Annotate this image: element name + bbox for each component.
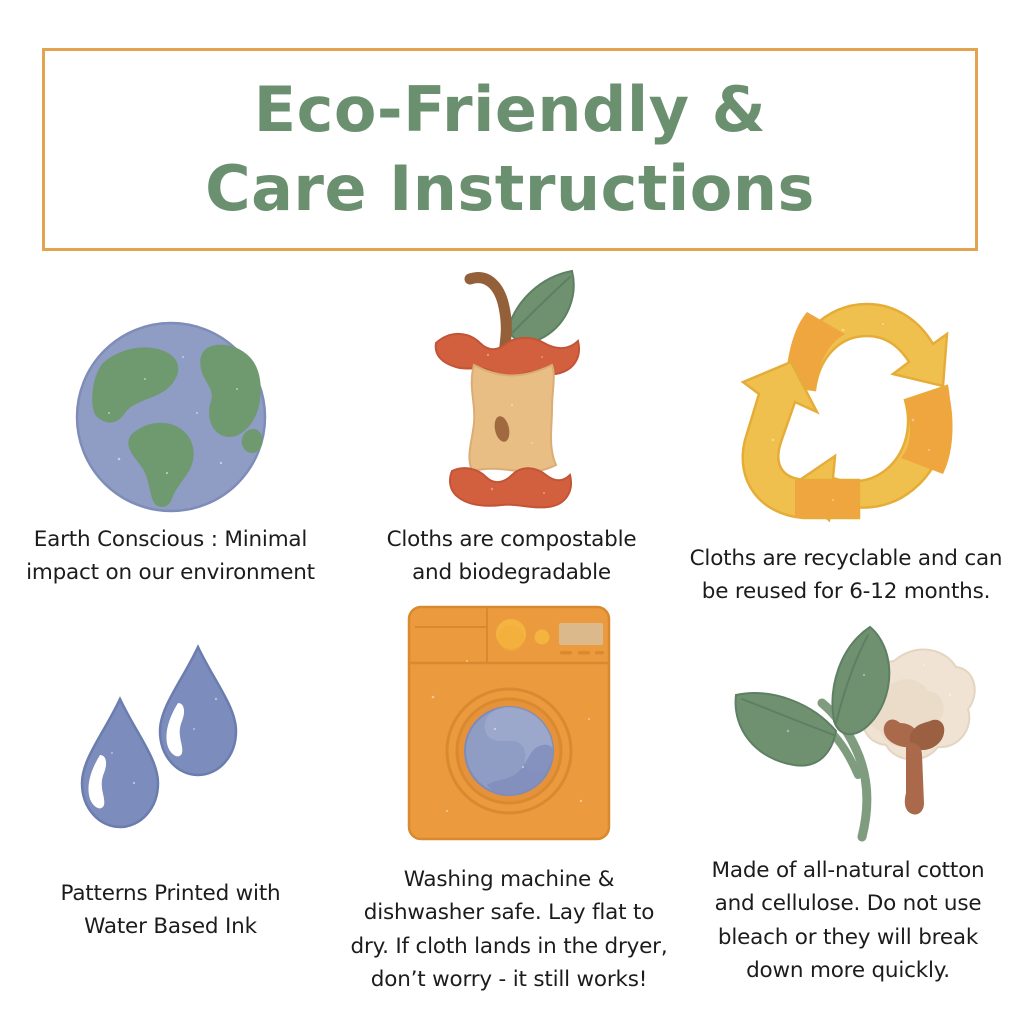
feature-earth-conscious: Earth Conscious : Minimal impact on our …	[0, 295, 341, 590]
water-drops-icon	[76, 633, 266, 833]
feature-grid: Earth Conscious : Minimal impact on our …	[0, 255, 1024, 1024]
small-knob-icon	[535, 630, 550, 645]
feature-washing-machine: Washing machine & dishwasher safe. Lay f…	[335, 595, 683, 996]
feature-cotton-caption: Made of all-natural cotton and cellulose…	[712, 854, 985, 987]
title-banner: Eco-Friendly & Care Instructions	[42, 48, 978, 251]
feature-ink-caption: Patterns Printed with Water Based Ink	[61, 877, 281, 944]
feature-recycle-art	[733, 280, 959, 528]
recycle-icon	[733, 290, 959, 528]
feature-earth-caption: Earth Conscious : Minimal impact on our …	[26, 523, 315, 590]
display-panel-icon	[559, 623, 603, 645]
feature-compost-art	[422, 255, 602, 517]
feature-ink-art	[76, 615, 266, 833]
feature-recyclable: Cloths are recyclable and can be reused …	[668, 280, 1024, 609]
globe-icon	[71, 317, 271, 517]
cotton-plant-icon	[718, 625, 978, 840]
cotton-bract-icon	[884, 720, 945, 815]
feature-earth-art	[71, 295, 271, 517]
feature-compostable: Cloths are compostable and biodegradable	[341, 255, 682, 590]
feature-natural-cotton: Made of all-natural cotton and cellulose…	[672, 625, 1024, 987]
feature-cotton-art	[718, 625, 978, 840]
apple-core-icon	[422, 257, 602, 517]
feature-recycle-caption: Cloths are recyclable and can be reused …	[690, 542, 1003, 609]
washing-machine-icon	[403, 601, 615, 845]
feature-compost-caption: Cloths are compostable and biodegradable	[387, 523, 637, 590]
page-title-line-2: Care Instructions	[205, 150, 815, 228]
page-title-line-1: Eco-Friendly &	[254, 71, 767, 149]
feature-water-based-ink: Patterns Printed with Water Based Ink	[0, 615, 341, 944]
feature-wash-caption: Washing machine & dishwasher safe. Lay f…	[351, 863, 668, 996]
feature-wash-art	[403, 595, 615, 845]
